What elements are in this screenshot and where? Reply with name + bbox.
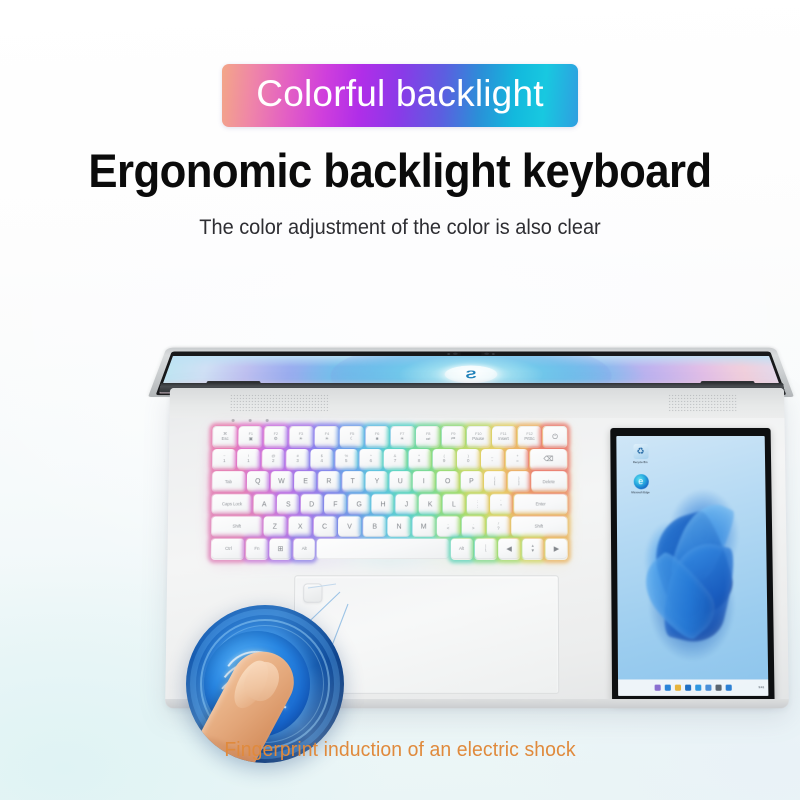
key-sublabel: F2 bbox=[274, 432, 278, 436]
key-k[interactable]: K bbox=[419, 494, 441, 514]
key-label: F5☾ bbox=[350, 432, 354, 441]
key-label: Fn bbox=[254, 546, 259, 551]
key-0[interactable]: )0 bbox=[457, 449, 479, 469]
key-2[interactable]: @2 bbox=[262, 449, 284, 469]
key-label: O bbox=[445, 478, 450, 486]
webcam-module bbox=[437, 352, 506, 355]
key-label: F1▣ bbox=[248, 432, 252, 441]
key-space[interactable]: ;: bbox=[466, 494, 487, 514]
rgb-backlit-keyboard[interactable]: ⌘EscF1▣F2⚙F3☀F4☀F5☾F6■F7☀F8⏭F9⏮F10PauseF… bbox=[212, 427, 567, 564]
speaker-grille-left bbox=[230, 394, 330, 412]
key-sublabel: F12 bbox=[524, 432, 534, 436]
taskbar-search-icon[interactable] bbox=[715, 685, 721, 691]
key-label: !1 bbox=[247, 455, 249, 464]
key-sublabel: ' bbox=[500, 499, 501, 503]
key-label: E bbox=[303, 478, 308, 486]
key-pause[interactable]: F10Pause bbox=[467, 427, 490, 447]
key-sublabel: * bbox=[418, 455, 420, 459]
camera-lens-icon bbox=[453, 353, 458, 355]
key-label: Q bbox=[255, 478, 260, 486]
key-b[interactable]: B bbox=[363, 516, 386, 536]
key-label: F8⏭ bbox=[426, 432, 430, 441]
key-space[interactable]: ▲▼ bbox=[522, 539, 543, 559]
secondary-display-panel[interactable]: ♻ Recycle Bin e Microsoft Edge 9:41 bbox=[616, 436, 768, 696]
key-space[interactable]: F5☾ bbox=[340, 427, 363, 447]
key-space[interactable]: {[ bbox=[484, 472, 506, 492]
camera-housing bbox=[461, 352, 482, 355]
key-label: F11Insert bbox=[499, 432, 509, 441]
key-label: #3 bbox=[296, 455, 298, 464]
key-label: V bbox=[347, 522, 352, 530]
key-label: )0 bbox=[467, 455, 469, 464]
keyboard-row: ShiftZXCVBNM,<.>/?Shift bbox=[212, 516, 567, 536]
key-g[interactable]: G bbox=[348, 494, 370, 514]
key-t[interactable]: T bbox=[342, 472, 364, 492]
key-space[interactable]: }] bbox=[508, 472, 530, 492]
key-sublabel: ) bbox=[467, 455, 469, 459]
charge-led-icon bbox=[249, 419, 252, 422]
key-sublabel: ! bbox=[247, 455, 249, 459]
ir-sensor-icon bbox=[492, 353, 495, 355]
key-sublabel: F10 bbox=[472, 432, 484, 436]
key-space[interactable]: '" bbox=[490, 494, 512, 514]
key-label: P bbox=[469, 478, 474, 486]
key-label: ⌫ bbox=[543, 455, 553, 463]
key-ctrl[interactable]: Ctrl bbox=[212, 539, 244, 559]
key-label: S bbox=[285, 500, 290, 508]
key-space[interactable]: F1▣ bbox=[239, 427, 262, 447]
key-space[interactable]: F6■ bbox=[365, 427, 388, 447]
key-sublabel: @ bbox=[271, 455, 275, 459]
camera-lens-icon bbox=[484, 353, 489, 355]
key-z[interactable]: Z bbox=[264, 516, 287, 536]
key-sublabel: / bbox=[497, 522, 499, 526]
brand-logo-glyph: Ƨ bbox=[465, 369, 476, 380]
key-sublabel: F3 bbox=[299, 432, 303, 436]
key-sublabel: _ bbox=[492, 455, 494, 459]
key-label: %5 bbox=[344, 455, 347, 464]
key-3[interactable]: #3 bbox=[286, 449, 308, 469]
key-space[interactable]: F4☀ bbox=[315, 427, 338, 447]
taskbar-store-icon[interactable] bbox=[655, 685, 661, 691]
key-fn[interactable]: Fn bbox=[246, 539, 268, 559]
key-label: I bbox=[423, 478, 425, 486]
key-label: (9 bbox=[443, 455, 445, 464]
key-sublabel: $ bbox=[321, 455, 323, 459]
key-label: Alt bbox=[301, 546, 306, 551]
key-label: F4☀ bbox=[324, 432, 328, 441]
key-label: Tab bbox=[225, 479, 232, 484]
key-label: '" bbox=[500, 499, 501, 509]
key-label: /? bbox=[497, 522, 499, 532]
key-label: L bbox=[452, 500, 456, 508]
key-8[interactable]: *8 bbox=[408, 449, 430, 469]
product-poster: Colorful backlight Ergonomic backlight k… bbox=[0, 0, 800, 800]
key-w[interactable]: W bbox=[271, 472, 293, 492]
key-label: D bbox=[309, 500, 314, 508]
edge-icon: e bbox=[633, 474, 648, 489]
key-label: A bbox=[262, 500, 267, 508]
key-a[interactable]: A bbox=[253, 494, 275, 514]
key-label: {[ bbox=[494, 477, 495, 486]
key-label: ,< bbox=[447, 522, 450, 532]
key-label: |\ bbox=[485, 544, 486, 554]
fingerprint-caption: Fingerprint induction of an electric sho… bbox=[12, 736, 788, 764]
taskbar-explorer-icon[interactable] bbox=[675, 685, 681, 691]
key-label: Enter bbox=[535, 501, 545, 506]
key-o[interactable]: O bbox=[437, 472, 459, 492]
key-sublabel: # bbox=[296, 455, 298, 459]
key-sublabel: % bbox=[344, 455, 347, 459]
key-space[interactable]: F2⚙ bbox=[264, 427, 287, 447]
key-c[interactable]: C bbox=[313, 516, 336, 536]
key-x[interactable]: X bbox=[289, 516, 312, 536]
key-d[interactable]: D bbox=[301, 494, 323, 514]
speaker-grille-right bbox=[668, 394, 736, 412]
key-space[interactable]: ⏻ bbox=[543, 427, 566, 447]
key-insert[interactable]: F11Insert bbox=[492, 427, 515, 447]
key-y[interactable]: Y bbox=[366, 472, 388, 492]
key-sublabel: ▲ bbox=[530, 544, 534, 548]
key-label: Shift bbox=[535, 524, 543, 529]
key-space[interactable]: ▶ bbox=[545, 539, 566, 559]
windows-taskbar[interactable]: 9:41 bbox=[618, 679, 768, 695]
key-i[interactable]: I bbox=[413, 472, 435, 492]
laptop-product-photo: Ƨ ⌘EscF1▣F2⚙F3☀F4☀F5☾F6■F7☀F8⏭F9⏮F10Paus… bbox=[0, 0, 800, 800]
key-label: X bbox=[298, 522, 303, 530]
key-label: F2⚙ bbox=[273, 432, 277, 441]
key-label: ▶ bbox=[553, 545, 558, 553]
key-sublabel: F6 bbox=[375, 432, 379, 436]
key-sublabel: ^ bbox=[369, 455, 371, 459]
key-1[interactable]: ~1 bbox=[213, 449, 235, 469]
key-label: ▲▼ bbox=[530, 544, 534, 554]
key-1[interactable]: !1 bbox=[237, 449, 259, 469]
key-sublabel: ⌘ bbox=[221, 432, 228, 436]
key-sublabel: { bbox=[494, 477, 495, 481]
key-label: F12PrtSc bbox=[524, 432, 534, 441]
key-sublabel: + bbox=[516, 455, 519, 459]
key-sublabel: } bbox=[518, 477, 519, 481]
key-label: ~1 bbox=[223, 455, 225, 464]
key-sublabel: F4 bbox=[324, 432, 328, 436]
keyboard-row: Caps LockASDFGHJKL;:'"Enter bbox=[212, 494, 566, 514]
key-sublabel: F8 bbox=[426, 432, 430, 436]
key-space[interactable]: ◀ bbox=[498, 539, 519, 559]
key-label: Y bbox=[374, 478, 379, 486]
key-label: F bbox=[333, 500, 337, 508]
key-label: F7☀ bbox=[400, 432, 404, 441]
desktop-icon-label: Microsoft Edge bbox=[632, 491, 650, 494]
brand-logo: Ƨ bbox=[444, 366, 497, 384]
key-space[interactable]: F9⏮ bbox=[442, 427, 465, 447]
key-f[interactable]: F bbox=[324, 494, 346, 514]
key-label: *8 bbox=[418, 455, 420, 464]
key-sublabel: . bbox=[472, 522, 475, 526]
key-sublabel: & bbox=[394, 455, 397, 459]
taskbar-task-view-icon[interactable] bbox=[705, 685, 711, 691]
key-label: .> bbox=[472, 522, 475, 532]
key-n[interactable]: N bbox=[388, 516, 411, 536]
key-label: U bbox=[398, 478, 403, 486]
taskbar-widgets-icon[interactable] bbox=[695, 685, 701, 691]
key-label: J bbox=[404, 500, 407, 508]
key-sublabel: F11 bbox=[499, 432, 509, 436]
key-v[interactable]: V bbox=[338, 516, 361, 536]
key-space[interactable]: ,< bbox=[437, 516, 460, 536]
key-label: &7 bbox=[394, 455, 397, 464]
key-sublabel: ~ bbox=[223, 455, 225, 459]
key-space[interactable]: |\ bbox=[475, 539, 496, 559]
key-label: Delete bbox=[543, 479, 555, 484]
key-s[interactable]: S bbox=[277, 494, 299, 514]
key-label: ⏻ bbox=[552, 433, 557, 441]
key-label: ⌘Esc bbox=[221, 432, 228, 441]
status-indicator-leds bbox=[232, 419, 269, 422]
key-space[interactable]: F3☀ bbox=[289, 427, 312, 447]
taskbar-start-icon[interactable] bbox=[726, 685, 732, 691]
key-label: ◀ bbox=[506, 545, 511, 553]
key-label: K bbox=[428, 500, 433, 508]
key-label: _- bbox=[492, 455, 494, 464]
desktop-icon-microsoft-edge[interactable]: e Microsoft Edge bbox=[624, 474, 658, 494]
key-label: N bbox=[397, 522, 402, 530]
recycle-bin-icon: ♻ bbox=[633, 444, 648, 459]
windows-wallpaper bbox=[631, 477, 762, 669]
key-label: F9⏮ bbox=[451, 432, 455, 441]
key-space[interactable]: F7☀ bbox=[391, 427, 414, 447]
key-space[interactable]: ⌫ bbox=[530, 449, 566, 469]
key-label: $4 bbox=[321, 455, 323, 464]
key-label: Z bbox=[273, 522, 277, 530]
key-sublabel: ; bbox=[477, 499, 478, 503]
key-sublabel: | bbox=[485, 544, 486, 548]
key-r[interactable]: R bbox=[318, 472, 340, 492]
key-label: Ctrl bbox=[225, 546, 232, 551]
key-j[interactable]: J bbox=[395, 494, 417, 514]
key-label: Alt bbox=[459, 546, 464, 551]
key-space[interactable]: _- bbox=[481, 449, 503, 469]
ir-sensor-icon bbox=[447, 353, 450, 355]
key-space[interactable]: .> bbox=[462, 516, 485, 536]
key-sublabel: F9 bbox=[451, 432, 455, 436]
key-label: C bbox=[322, 522, 327, 530]
keyboard-row: ~1!1@2#3$4%5^6&7*8(9)0_-+=⌫ bbox=[213, 449, 566, 469]
fingerprint-sensor[interactable] bbox=[303, 583, 322, 602]
key-alt[interactable]: Alt bbox=[451, 539, 472, 559]
key-label: Caps Lock bbox=[222, 501, 242, 506]
key-label: G bbox=[356, 500, 361, 508]
key-7[interactable]: &7 bbox=[384, 449, 406, 469]
key-p[interactable]: P bbox=[461, 472, 483, 492]
key-label: H bbox=[380, 500, 385, 508]
key-label: @2 bbox=[271, 455, 275, 464]
key-space[interactable]: /? bbox=[487, 516, 510, 536]
key-m[interactable]: M bbox=[412, 516, 435, 536]
deck-top-strip bbox=[170, 388, 785, 418]
key-l[interactable]: L bbox=[443, 494, 465, 514]
taskbar-chat-icon[interactable] bbox=[685, 685, 691, 691]
key-tab[interactable]: Tab bbox=[213, 472, 245, 492]
key-label: T bbox=[351, 478, 355, 486]
key-label: }] bbox=[518, 477, 519, 486]
key-space[interactable]: F8⏭ bbox=[416, 427, 439, 447]
key-label: ;: bbox=[477, 499, 478, 509]
key-label: ^6 bbox=[369, 455, 371, 464]
key-e[interactable]: E bbox=[295, 472, 317, 492]
key-label: F6■ bbox=[375, 432, 379, 441]
key-label: R bbox=[327, 478, 332, 486]
power-led-icon bbox=[232, 419, 235, 422]
key-label: Shift bbox=[233, 524, 241, 529]
key-sublabel: F1 bbox=[248, 432, 252, 436]
key-space[interactable] bbox=[317, 539, 449, 559]
key-delete[interactable]: Delete bbox=[532, 472, 567, 492]
key-5[interactable]: %5 bbox=[335, 449, 357, 469]
key-label: += bbox=[516, 455, 519, 464]
taskbar-edge-icon[interactable] bbox=[665, 685, 671, 691]
key-u[interactable]: U bbox=[389, 472, 411, 492]
key-label: F10Pause bbox=[472, 432, 484, 441]
key-shift[interactable]: Shift bbox=[511, 516, 566, 536]
key-prtsc[interactable]: F12PrtSc bbox=[518, 427, 541, 447]
key-6[interactable]: ^6 bbox=[359, 449, 381, 469]
key-enter[interactable]: Enter bbox=[514, 494, 567, 514]
key-label: ⊞ bbox=[277, 545, 283, 553]
secondary-touch-display[interactable]: ♻ Recycle Bin e Microsoft Edge 9:41 bbox=[610, 428, 774, 702]
key-label: W bbox=[278, 478, 285, 486]
key-4[interactable]: $4 bbox=[311, 449, 333, 469]
key-label: M bbox=[421, 522, 427, 530]
key-esc[interactable]: ⌘Esc bbox=[213, 427, 236, 447]
keyboard-row: CtrlFn⊞AltAlt|\◀▲▼▶ bbox=[212, 539, 567, 559]
key-label: B bbox=[372, 522, 377, 530]
key-sublabel: ( bbox=[443, 455, 445, 459]
keyboard-row: ⌘EscF1▣F2⚙F3☀F4☀F5☾F6■F7☀F8⏭F9⏮F10PauseF… bbox=[213, 427, 566, 447]
key-space[interactable]: ⊞ bbox=[270, 539, 292, 559]
desktop-icon-recycle-bin[interactable]: ♻ Recycle Bin bbox=[623, 444, 657, 464]
key-h[interactable]: H bbox=[372, 494, 394, 514]
fingernail bbox=[239, 656, 286, 706]
key-sublabel: , bbox=[447, 522, 450, 526]
key-alt[interactable]: Alt bbox=[293, 539, 315, 559]
key-label: F3☀ bbox=[299, 432, 303, 441]
caps-led-icon bbox=[266, 419, 269, 422]
key-space[interactable]: += bbox=[506, 449, 528, 469]
key-sublabel: F7 bbox=[400, 432, 404, 436]
key-sublabel: F5 bbox=[350, 432, 354, 436]
key-shift[interactable]: Shift bbox=[212, 516, 262, 536]
key-caps-lock[interactable]: Caps Lock bbox=[212, 494, 251, 514]
desktop-icon-label: Recycle Bin bbox=[633, 461, 648, 464]
key-q[interactable]: Q bbox=[247, 472, 269, 492]
taskbar-clock: 9:41 bbox=[758, 686, 764, 690]
key-9[interactable]: (9 bbox=[433, 449, 455, 469]
keyboard-row: TabQWERTYUIOP{[}]Delete bbox=[213, 472, 567, 492]
